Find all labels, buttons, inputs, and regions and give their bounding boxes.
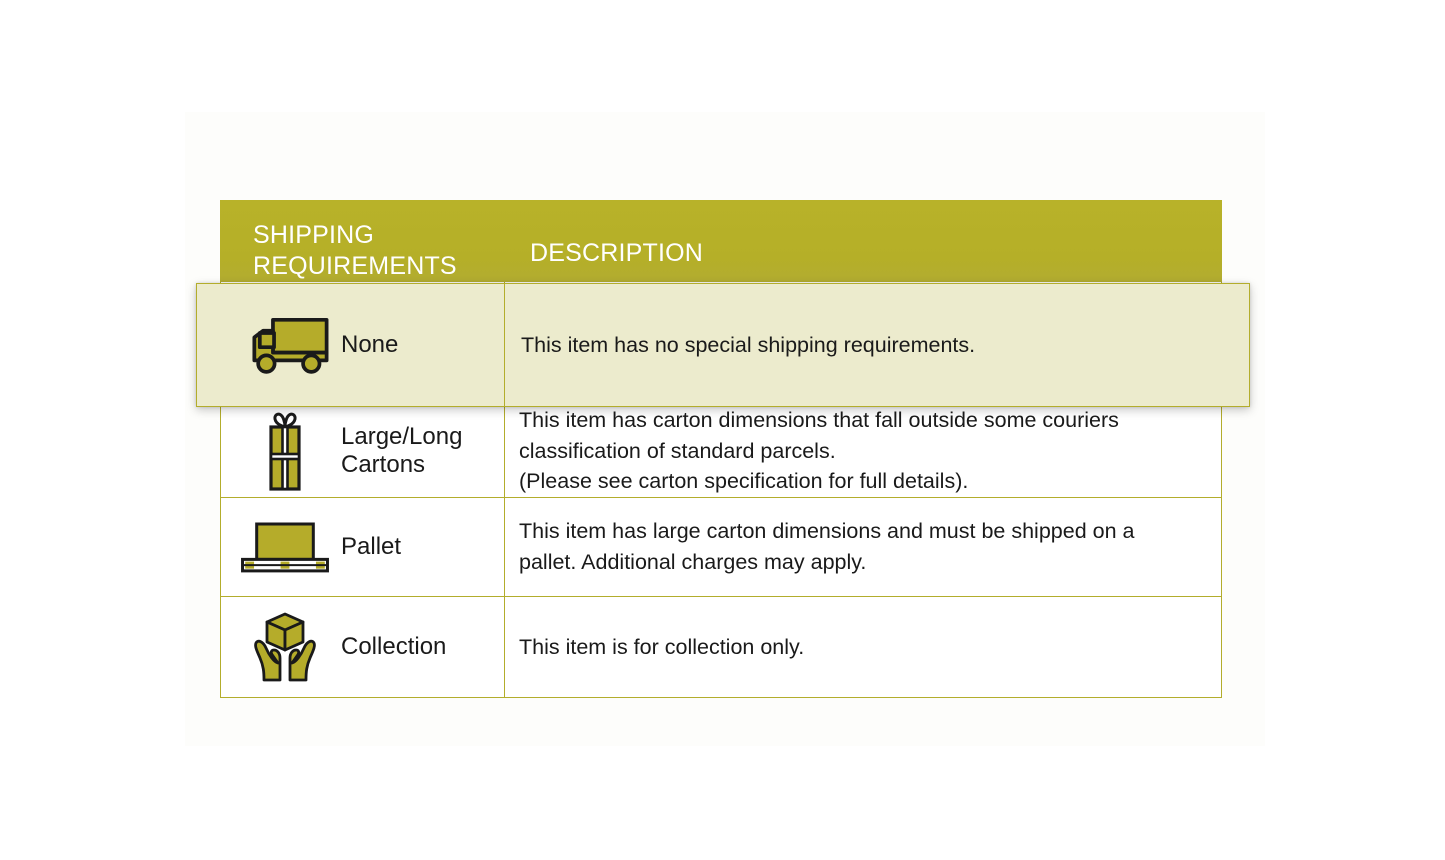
description-text-large-long-cartons: This item has carton dimensions that fal… bbox=[519, 405, 1119, 497]
requirement-label-large-long-cartons: Large/Long Cartons bbox=[341, 423, 462, 480]
cell-description-pallet: This item has large carton dimensions an… bbox=[505, 498, 1221, 596]
pallet-icon bbox=[239, 517, 331, 577]
table-row-collection[interactable]: Collection This item is for collection o… bbox=[221, 597, 1221, 697]
description-text-none-highlighted: This item has no special shipping requir… bbox=[521, 330, 975, 361]
cell-description-collection: This item is for collection only. bbox=[505, 597, 1221, 697]
tall-parcel-gift-icon bbox=[239, 410, 331, 492]
requirement-label-pallet: Pallet bbox=[341, 533, 401, 561]
table-row-pallet[interactable]: Pallet This item has large carton dimens… bbox=[221, 498, 1221, 597]
highlighted-row-none[interactable]: None This item has no special shipping r… bbox=[196, 283, 1250, 407]
cell-requirement-none-highlighted: None bbox=[197, 284, 505, 406]
cell-requirement-pallet: Pallet bbox=[221, 498, 505, 596]
cell-description-large-long-cartons: This item has carton dimensions that fal… bbox=[505, 405, 1221, 497]
cell-description-none-highlighted: This item has no special shipping requir… bbox=[505, 284, 1249, 406]
description-text-pallet: This item has large carton dimensions an… bbox=[519, 516, 1134, 577]
description-text-collection: This item is for collection only. bbox=[519, 632, 804, 663]
column-header-description: DESCRIPTION bbox=[530, 238, 703, 269]
delivery-truck-icon bbox=[239, 314, 331, 376]
table-row-large-long-cartons[interactable]: Large/Long Cartons This item has carton … bbox=[221, 405, 1221, 498]
requirement-label-none-highlighted: None bbox=[341, 331, 398, 359]
table-header-band: SHIPPING REQUIREMENTS DESCRIPTION bbox=[220, 200, 1222, 282]
column-header-shipping-requirements: SHIPPING REQUIREMENTS bbox=[253, 220, 503, 283]
cell-requirement-collection: Collection bbox=[221, 597, 505, 697]
hands-holding-box-icon bbox=[239, 610, 331, 684]
requirement-label-collection: Collection bbox=[341, 633, 446, 661]
shipping-requirements-table: SHIPPING REQUIREMENTS DESCRIPTION bbox=[220, 200, 1222, 698]
cell-requirement-large-long-cartons: Large/Long Cartons bbox=[221, 405, 505, 497]
